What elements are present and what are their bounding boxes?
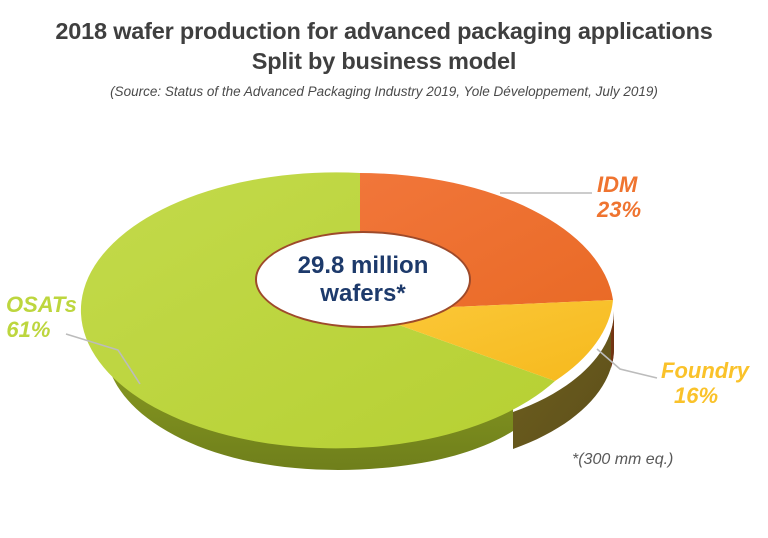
slice-label-foundry-name: Foundry — [661, 358, 749, 383]
slice-label-idm-name: IDM — [597, 172, 637, 197]
slice-label-osats: OSATs 61% — [6, 292, 77, 342]
footnote: *(300 mm eq.) — [572, 451, 673, 469]
slice-label-idm-pct: 23% — [597, 197, 649, 222]
center-total-line1: 29.8 million — [298, 252, 429, 280]
slice-side-idm — [611, 311, 614, 368]
slice-label-osats-name: OSATs — [6, 292, 77, 317]
slice-label-foundry-pct: 16% — [661, 383, 749, 408]
center-total-callout: 29.8 million wafers* — [255, 231, 471, 328]
center-total-line2: wafers* — [320, 280, 405, 308]
slice-label-foundry: Foundry 16% — [661, 358, 749, 408]
slice-label-osats-pct: 61% — [6, 317, 77, 342]
slide-canvas: 2018 wafer production for advanced packa… — [0, 0, 768, 538]
slice-label-idm: IDM 23% — [597, 172, 649, 222]
